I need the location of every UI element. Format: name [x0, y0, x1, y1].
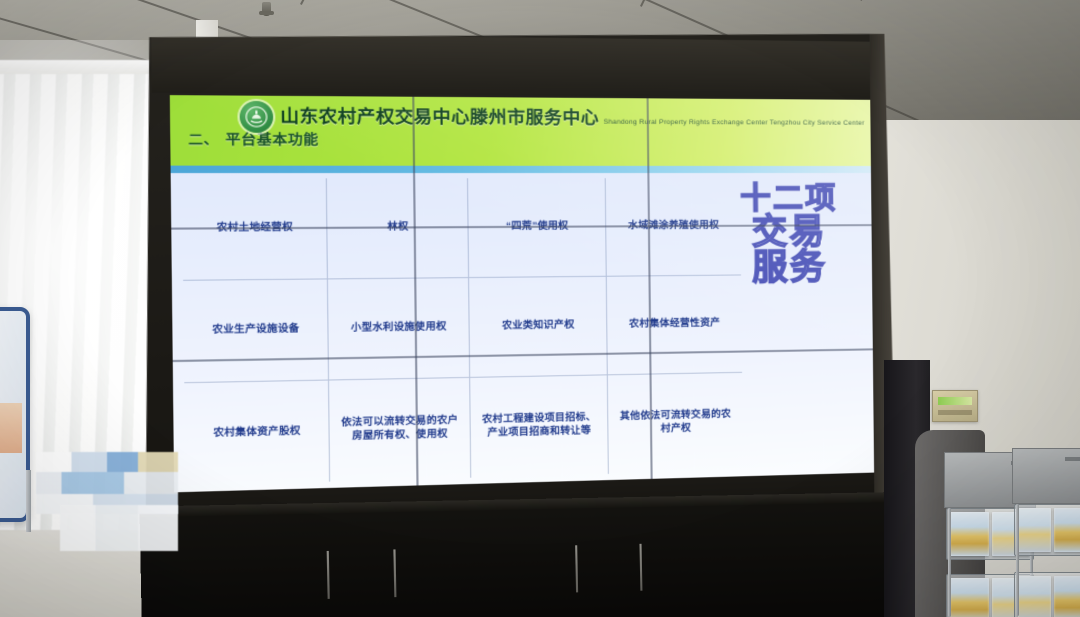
presentation-slide: 二、 平台基本功能 山东农村产权交易中心滕州市服务中心 — [170, 95, 874, 492]
video-wall-top-bezel — [151, 33, 884, 98]
service-cell[interactable]: 农村工程建设项目招标、产业项目招商和转让等 — [470, 375, 609, 477]
mosaic-blur-overlay — [60, 505, 178, 551]
service-cell[interactable]: “四荒”使用权 — [468, 178, 607, 278]
video-wall[interactable]: 二、 平台基本功能 山东农村产权交易中心滕州市服务中心 — [140, 24, 897, 559]
service-cell[interactable]: 农村集体经营性资产 — [607, 275, 742, 375]
service-cell[interactable]: 农业类知识产权 — [469, 277, 608, 378]
headline-outline-text: 十二项 交易 服务 — [720, 184, 859, 286]
screen-surface[interactable]: 二、 平台基本功能 山东农村产权交易中心滕州市服务中心 — [170, 95, 874, 492]
service-cell[interactable]: 小型水利设施使用权 — [328, 278, 470, 380]
service-cell[interactable]: 农村土地经营权 — [182, 178, 328, 281]
room-scene: 二、 平台基本功能 山东农村产权交易中心滕州市服务中心 — [0, 0, 1080, 617]
rack-back-panel — [1012, 448, 1080, 504]
brand-text: 山东农村产权交易中心滕州市服务中心 Shandong Rural Propert… — [280, 107, 865, 129]
rack-rail — [948, 508, 951, 617]
brochure-tray[interactable] — [1014, 572, 1080, 617]
brochure[interactable] — [1054, 576, 1080, 617]
brochure[interactable] — [950, 512, 989, 556]
brand-name-cn: 山东农村产权交易中心滕州市服务中心 — [280, 106, 599, 127]
brand-name-en: Shandong Rural Property Rights Exchange … — [604, 118, 865, 126]
brochure[interactable] — [1054, 508, 1080, 552]
sprinkler-icon — [262, 2, 271, 16]
cabinet-handle[interactable] — [575, 545, 578, 592]
brochure[interactable] — [950, 578, 989, 617]
brand-lockup: 山东农村产权交易中心滕州市服务中心 Shandong Rural Propert… — [240, 101, 865, 135]
services-grid: 农村土地经营权 林权 “四荒”使用权 水域滩涂养殖使用权 农业生产设施设备 小型… — [182, 178, 743, 486]
headline-line: 交易 — [720, 214, 858, 250]
headline-line: 十二项 — [720, 184, 858, 215]
display-cabinet[interactable] — [139, 492, 898, 617]
cabinet-handle[interactable] — [327, 551, 330, 599]
wall-plaque — [932, 390, 978, 422]
poster-board-post — [26, 470, 31, 532]
headline-line: 服务 — [720, 249, 858, 286]
wheat-sheaf-emblem-icon — [240, 101, 274, 133]
service-cell[interactable]: 依法可以流转交易的农户房屋所有权、使用权 — [329, 378, 471, 482]
service-cell[interactable]: 其他依法可流转交易的农村产权 — [608, 373, 743, 474]
brochure-tray[interactable] — [1014, 504, 1080, 556]
brochure-rack[interactable] — [1012, 448, 1080, 617]
cabinet-handle[interactable] — [639, 544, 642, 591]
poster-graphic — [0, 403, 22, 453]
cabinet-handle[interactable] — [393, 549, 396, 597]
brochure[interactable] — [1018, 508, 1051, 552]
service-cell[interactable]: 林权 — [327, 178, 469, 279]
slide-header-underline — [171, 166, 871, 173]
rack-rail — [1016, 504, 1019, 616]
section-number: 二、 — [188, 128, 219, 148]
brochure[interactable] — [1018, 576, 1051, 617]
service-cell[interactable]: 农村集体资产股权 — [184, 381, 330, 486]
service-cell[interactable]: 农业生产设施设备 — [183, 279, 329, 383]
